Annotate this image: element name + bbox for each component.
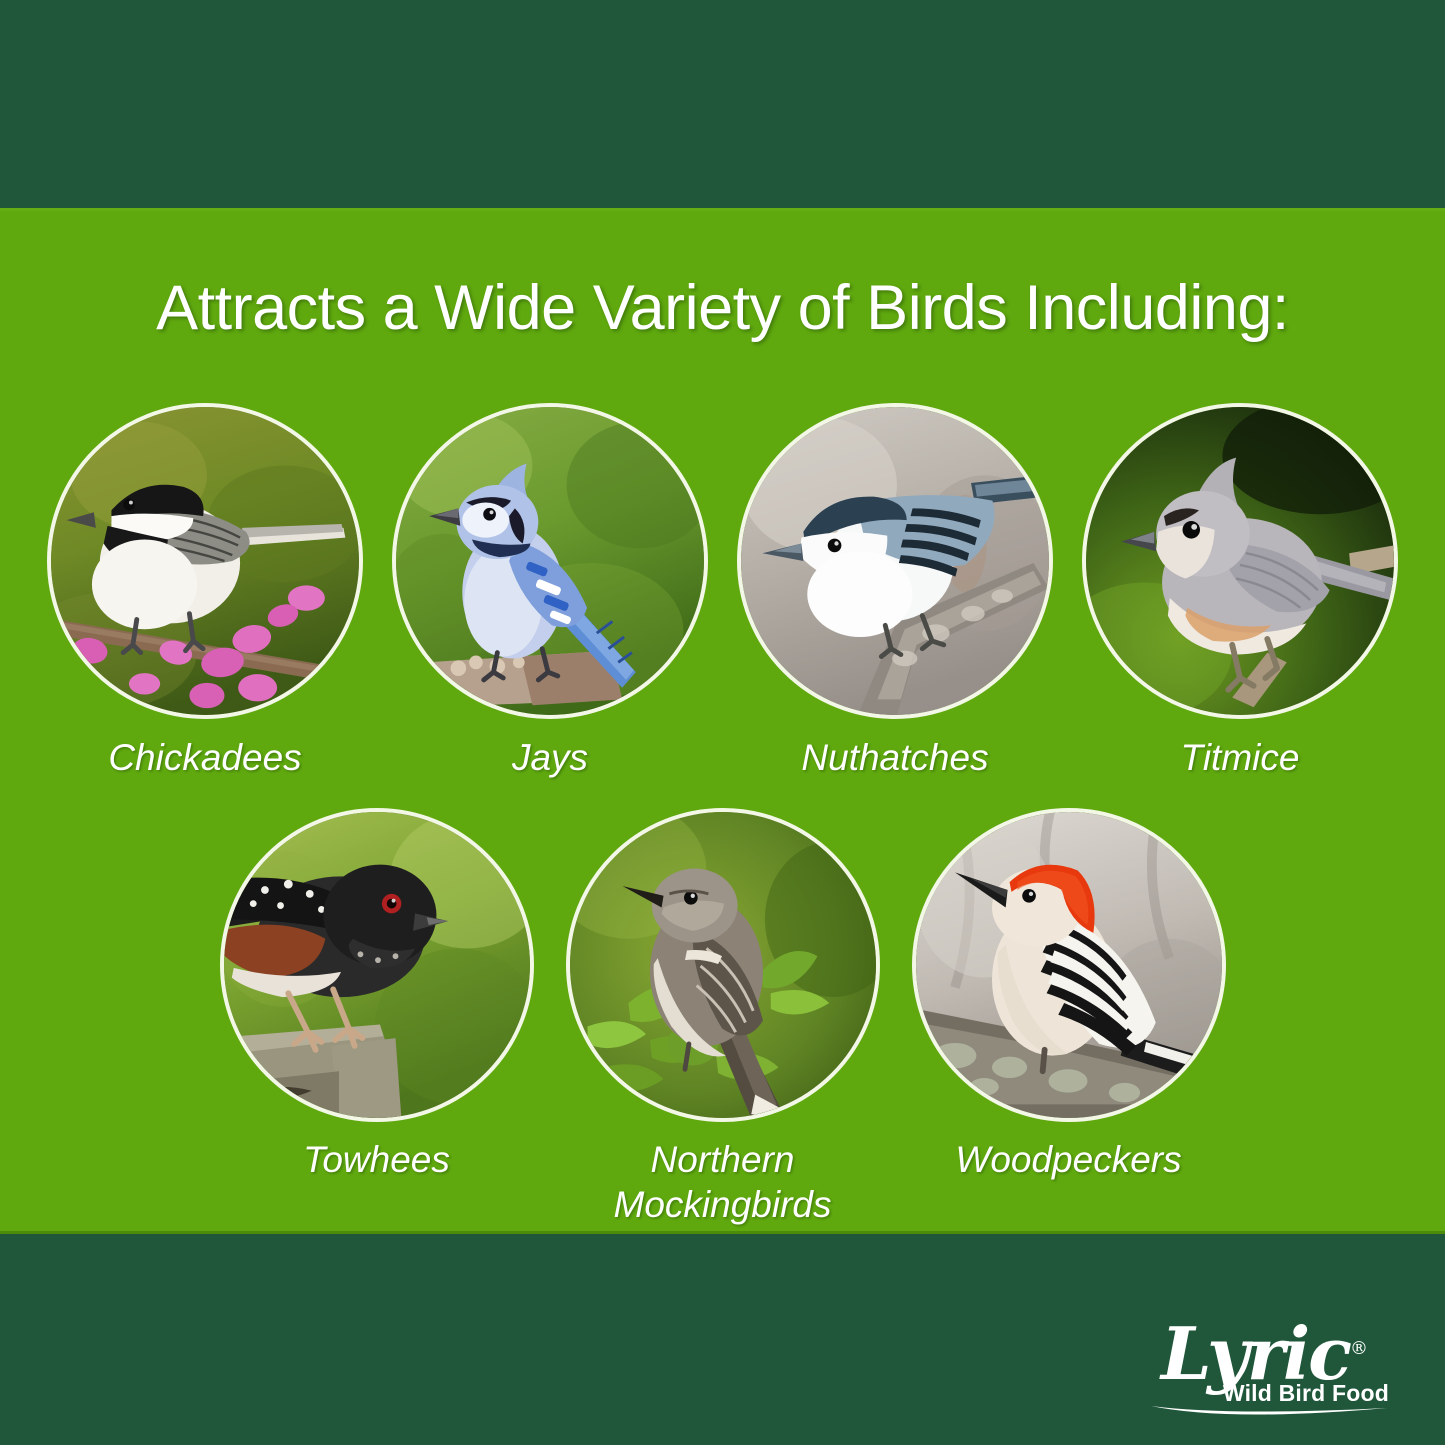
bird-row-2: Towhees: [0, 808, 1445, 1227]
titmouse-illustration: [1086, 407, 1394, 715]
registered-trademark-icon: ®: [1350, 1338, 1368, 1359]
bird-label-northern-mockingbirds: Northern Mockingbirds: [614, 1137, 832, 1227]
mockingbird-illustration: [570, 812, 876, 1118]
bird-label-woodpeckers: Woodpeckers: [955, 1137, 1181, 1182]
bird-item-chickadees[interactable]: Chickadees: [47, 403, 363, 780]
bird-photo-woodpeckers[interactable]: [912, 808, 1226, 1122]
bird-photo-jays[interactable]: [392, 403, 708, 719]
bird-photo-northern-mockingbirds[interactable]: [566, 808, 880, 1122]
bird-row-1: Chickadees: [0, 403, 1445, 780]
bird-label-jays: Jays: [512, 735, 588, 780]
bird-photo-towhees[interactable]: [220, 808, 534, 1122]
bird-photo-nuthatches[interactable]: [737, 403, 1053, 719]
bird-item-woodpeckers[interactable]: Woodpeckers: [912, 808, 1226, 1227]
blue-jay-illustration: [396, 407, 704, 715]
bird-item-titmice[interactable]: Titmice: [1082, 403, 1398, 780]
bird-photo-chickadees[interactable]: [47, 403, 363, 719]
page-title: Attracts a Wide Variety of Birds Includi…: [0, 272, 1445, 344]
bird-label-chickadees: Chickadees: [108, 735, 301, 780]
chickadee-illustration: [51, 407, 359, 715]
bird-photo-titmice[interactable]: [1082, 403, 1398, 719]
bird-label-nuthatches: Nuthatches: [801, 735, 988, 780]
towhee-illustration: [224, 812, 530, 1118]
bird-label-towhees: Towhees: [303, 1137, 450, 1182]
nuthatch-illustration: [741, 407, 1049, 715]
bird-item-towhees[interactable]: Towhees: [220, 808, 534, 1227]
top-band: [0, 0, 1445, 208]
brand-logo[interactable]: Lyric® Wild Bird Food: [1143, 1318, 1393, 1423]
logo-swoosh-icon: [1149, 1402, 1389, 1418]
bird-item-northern-mockingbirds[interactable]: Northern Mockingbirds: [566, 808, 880, 1227]
woodpecker-illustration: [916, 812, 1222, 1118]
poster: Attracts a Wide Variety of Birds Includi…: [0, 0, 1445, 1445]
bird-item-jays[interactable]: Jays: [392, 403, 708, 780]
bird-item-nuthatches[interactable]: Nuthatches: [737, 403, 1053, 780]
panel-top-edge: [0, 208, 1445, 211]
bird-label-titmice: Titmice: [1181, 735, 1300, 780]
